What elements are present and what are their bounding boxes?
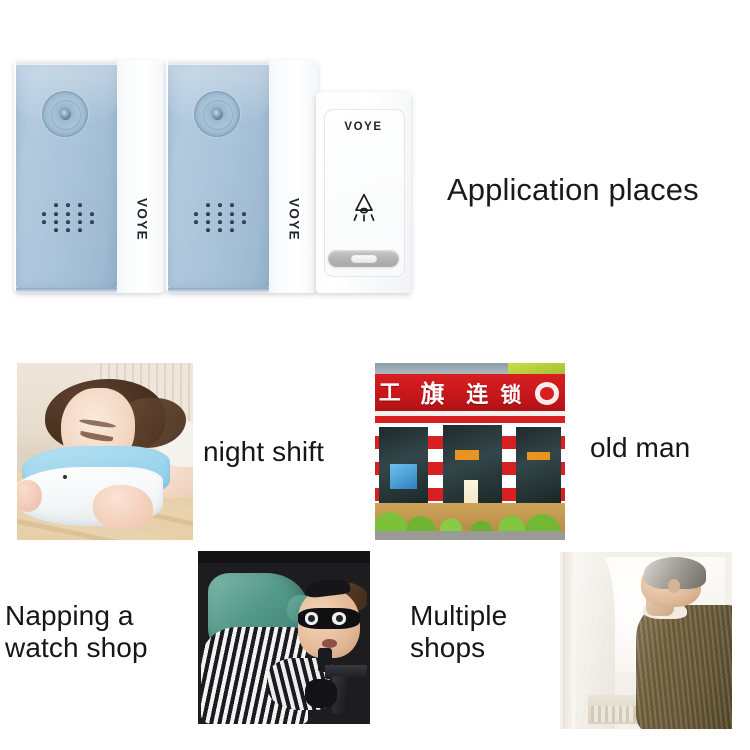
speaker-grille [32,201,104,235]
receiver-brand-label: VOYE [287,196,302,244]
led-indicator-lens [194,91,240,137]
storefront-character: 工 [379,375,401,407]
speaker-grille [184,201,256,235]
wireless-doorbell-receiver: VOYE [14,60,166,293]
receiver-body-side [266,60,318,293]
wireless-doorbell-transmitter: VOYE [316,92,411,293]
wireless-doorbell-receiver: VOYE [166,60,318,293]
page-title: Application places [447,172,699,209]
photo-burglar [198,551,370,724]
receiver-bottom-edge [16,288,117,293]
receiver-bottom-edge [168,288,269,293]
transmitter-brand-label: VOYE [316,121,411,133]
photo-sleeping-woman [17,363,193,540]
scene-caption-napping-a-watch-shop: Napping a watch shop [5,600,148,663]
receiver-top-edge [168,60,269,65]
photo-elderly-man [560,552,732,729]
scene-caption-multiple-shops: Multiple shops [410,600,507,663]
scene-caption-old-man: old man [590,432,690,464]
product-infographic-page: VOYE VOYE VOYE [0,0,750,750]
push-button-nub [351,255,377,263]
photo-storefront: 工 旗 连 锁 [375,363,565,540]
storefront-character: 旗 [421,374,445,409]
doorbell-push-button[interactable] [328,250,399,267]
bell-icon [347,190,381,224]
scene-caption-night-shift: night shift [203,436,324,468]
receiver-top-edge [16,60,117,65]
led-indicator-lens [42,91,88,137]
receiver-body-side [114,60,166,293]
storefront-character: 连 [466,377,488,409]
storefront-character: 锁 [500,379,521,409]
product-showcase: VOYE VOYE VOYE [0,0,750,330]
receiver-brand-label: VOYE [135,196,150,244]
